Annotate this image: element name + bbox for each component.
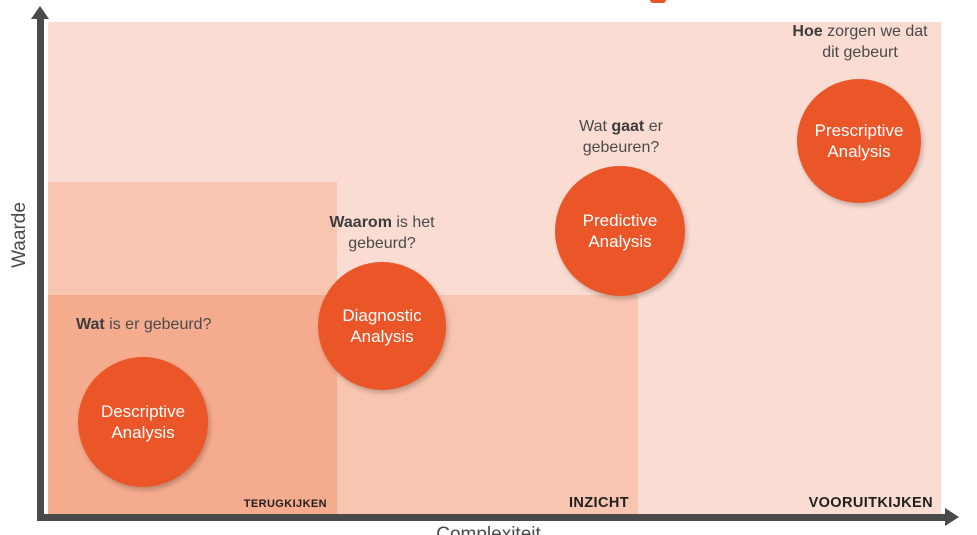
x-axis-line (37, 514, 949, 521)
annotation-diagnostic: Waarom is het gebeurd? (322, 213, 442, 255)
annotation-diagnostic-line2: gebeurd? (322, 234, 442, 255)
annotation-descriptive-bold: Wat (76, 316, 105, 333)
annotation-predictive-rest: er (644, 118, 663, 135)
bubble-predictive-line1: Predictive (583, 210, 658, 231)
bubble-prescriptive-line1: Prescriptive (815, 120, 904, 141)
annotation-predictive-pre: Wat (579, 118, 611, 135)
annotation-descriptive-rest: is er gebeurd? (105, 316, 212, 333)
bubble-predictive-line2: Analysis (583, 231, 658, 252)
annotation-diagnostic-bold: Waarom (329, 214, 392, 231)
bubble-predictive[interactable]: Predictive Analysis (555, 166, 685, 296)
bubble-descriptive-line2: Analysis (101, 422, 185, 443)
annotation-prescriptive-rest: zorgen we dat (823, 23, 928, 40)
clipped-bubble-sliver (650, 0, 666, 3)
bubble-prescriptive[interactable]: Prescriptive Analysis (797, 79, 921, 203)
bubble-diagnostic-line2: Analysis (342, 326, 421, 347)
bubble-descriptive[interactable]: Descriptive Analysis (78, 357, 208, 487)
annotation-predictive-bold: gaat (611, 118, 644, 135)
category-label-vooruitkijken: VOORUITKIJKEN (809, 495, 933, 511)
annotation-descriptive: Wat is er gebeurd? (76, 315, 211, 336)
annotation-predictive: Wat gaat er gebeuren? (566, 117, 676, 159)
y-axis-line (37, 16, 44, 520)
bubble-descriptive-line1: Descriptive (101, 401, 185, 422)
annotation-prescriptive-bold: Hoe (792, 23, 822, 40)
x-axis-title: Complexiteit (0, 524, 977, 535)
category-label-inzicht: INZICHT (569, 495, 629, 511)
annotation-prescriptive-line2: dit gebeurt (780, 43, 940, 64)
analytics-maturity-chart: Waarde Complexiteit Terugkijken INZICHT … (0, 0, 977, 535)
annotation-prescriptive: Hoe zorgen we dat dit gebeurt (780, 22, 940, 64)
category-label-terugkijken: Terugkijken (244, 494, 327, 511)
annotation-diagnostic-rest: is het (392, 214, 435, 231)
annotation-predictive-line2: gebeuren? (566, 138, 676, 159)
y-axis-title: Waarde (9, 190, 31, 280)
bubble-prescriptive-line2: Analysis (815, 141, 904, 162)
y-axis-arrow-icon (31, 6, 49, 19)
bubble-diagnostic-line1: Diagnostic (342, 305, 421, 326)
bubble-diagnostic[interactable]: Diagnostic Analysis (318, 262, 446, 390)
